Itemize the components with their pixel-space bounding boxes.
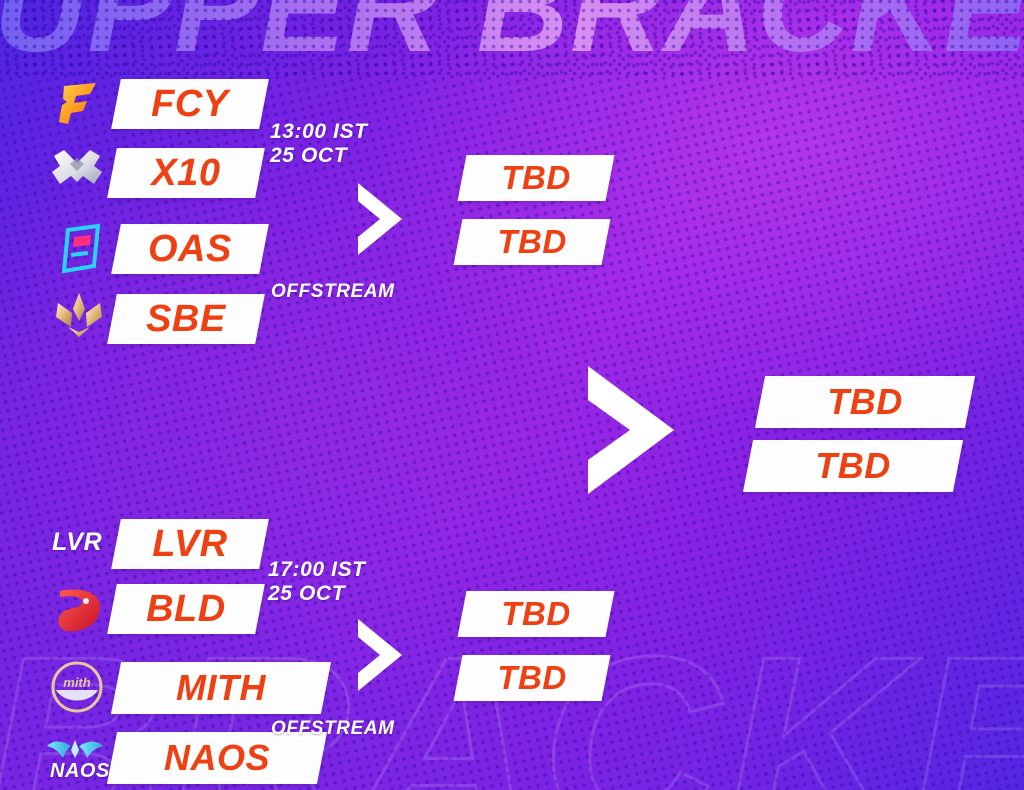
team-slot-sf2-top[interactable]: TBD xyxy=(458,591,615,637)
team-slot-sbe[interactable]: SBE xyxy=(107,294,265,344)
team-code: SBE xyxy=(112,298,260,341)
team-slot-fcy[interactable]: FCY xyxy=(111,79,269,129)
naos-wordmark: NAOS xyxy=(50,760,110,783)
team-code: X10 xyxy=(112,152,260,195)
mith-logo: mith xyxy=(50,660,104,714)
match-time-ub-m1: 13:00 IST 25 OCT xyxy=(270,120,368,167)
team-slot-sf1-bottom[interactable]: TBD xyxy=(454,219,611,265)
team-slot-oas[interactable]: OAS xyxy=(111,224,269,274)
chevron-icon-final xyxy=(578,360,686,500)
match-time: 17:00 IST xyxy=(268,558,366,582)
team-slot-final-bottom[interactable]: TBD xyxy=(743,440,963,492)
chevron-icon-r1-bottom xyxy=(352,615,408,695)
team-code: TBD xyxy=(458,223,606,261)
team-slot-sf1-top[interactable]: TBD xyxy=(458,155,615,201)
page-title: UPPER BRACKET xyxy=(0,0,1024,81)
sbe-logo xyxy=(52,290,106,344)
team-code: TBD xyxy=(458,659,606,697)
team-code: FCY xyxy=(116,83,264,126)
oas-logo xyxy=(54,222,108,276)
team-slot-lvr[interactable]: LVR xyxy=(111,519,269,569)
team-code: BLD xyxy=(112,588,260,631)
team-slot-naos[interactable]: NAOS xyxy=(107,732,327,784)
match-stream-ub-m2: OFFSTREAM xyxy=(271,281,395,302)
svg-text:mith: mith xyxy=(63,675,91,690)
team-slot-sf2-bottom[interactable]: TBD xyxy=(454,655,611,701)
bld-logo xyxy=(52,584,106,638)
team-code: LVR xyxy=(116,523,264,566)
team-slot-x10[interactable]: X10 xyxy=(107,148,265,198)
bracket-canvas: BRACKET UPPER BRACKET FCY X10 xyxy=(0,0,1024,790)
team-slot-mith[interactable]: MITH xyxy=(111,662,331,714)
team-code: OAS xyxy=(116,228,264,271)
team-slot-bld[interactable]: BLD xyxy=(107,584,265,634)
team-code: TBD xyxy=(462,595,610,633)
team-code: TBD xyxy=(760,381,970,423)
team-code: NAOS xyxy=(112,737,322,779)
x10-logo xyxy=(50,144,104,198)
team-code: TBD xyxy=(462,159,610,197)
team-slot-final-top[interactable]: TBD xyxy=(755,376,975,428)
team-code: TBD xyxy=(748,445,958,487)
fcy-logo xyxy=(52,76,106,130)
match-time-ub-m3: 17:00 IST 25 OCT xyxy=(268,558,366,605)
team-code: MITH xyxy=(116,667,326,709)
match-date: 25 OCT xyxy=(268,582,366,606)
match-time: 13:00 IST xyxy=(270,120,368,144)
match-date: 25 OCT xyxy=(270,144,368,168)
lvr-logo: LVR xyxy=(52,528,102,557)
match-stream-ub-m4: OFFSTREAM xyxy=(271,718,395,739)
chevron-icon-r1-top xyxy=(352,179,408,259)
